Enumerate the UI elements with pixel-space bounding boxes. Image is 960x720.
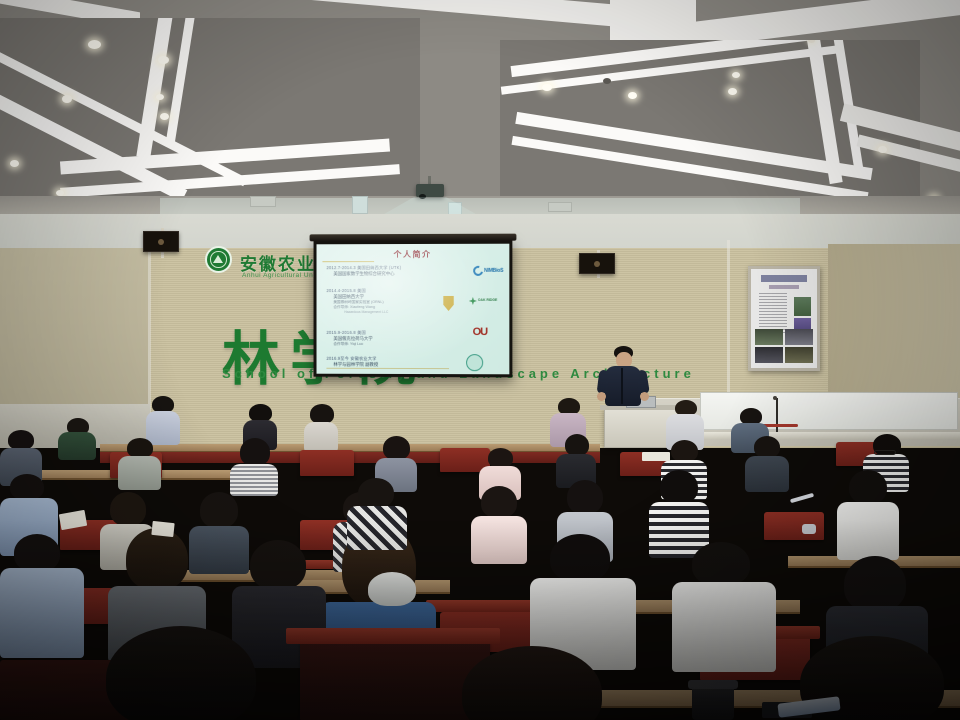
coffee-cup-lid	[688, 680, 738, 689]
nimbios-logo: NIMBioS	[473, 266, 503, 276]
audience-hair	[692, 542, 750, 586]
poster-photo	[785, 329, 813, 345]
poster-text-block	[759, 293, 787, 333]
presenter	[596, 346, 650, 416]
audience-torso	[745, 456, 789, 492]
seat-armrest	[426, 600, 546, 612]
slide-entry-line: 合作导师: Yiqi Luo	[333, 342, 372, 347]
audience-torso	[58, 432, 96, 460]
air-diffuser	[250, 196, 276, 207]
presenter-hand-left	[597, 392, 606, 401]
slide-entry: 2012.7-2014.3 美国田纳西大学 (UTK) 美国国家数学生物综合研究…	[326, 265, 401, 277]
audience-hair	[106, 626, 256, 720]
audience-hair	[10, 474, 44, 500]
presenter-torso	[605, 366, 641, 406]
audience-torso	[304, 422, 338, 452]
coffee-cup	[692, 684, 734, 720]
audience-hair	[754, 436, 780, 458]
university-seal-logo	[442, 296, 455, 311]
ceiling-downlight	[732, 72, 740, 78]
ceiling-downlight	[62, 95, 72, 103]
audience-torso	[837, 502, 899, 560]
ceiling-downlight	[88, 40, 101, 49]
poster-photo	[785, 347, 813, 363]
ou-logo: OU	[473, 326, 488, 338]
audience-hair	[565, 434, 589, 456]
audience-member	[302, 404, 340, 450]
poster-subtitle-bar	[769, 285, 799, 289]
nimbios-swirl-icon	[471, 264, 485, 278]
audience-hair	[383, 436, 410, 460]
audience-hair	[844, 556, 906, 612]
slide-entry: 2015.9-2016.8 美国 美国俄克拉荷马大学 合作导师: Yiqi Lu…	[326, 330, 372, 347]
audience-hair	[127, 438, 153, 458]
audience-torso	[118, 456, 161, 490]
notebook	[642, 452, 670, 461]
ceiling-downlight	[878, 146, 887, 153]
audience-member	[92, 626, 282, 720]
audience-member	[672, 542, 778, 668]
ceiling-coffer-right	[500, 40, 920, 216]
slide-entry: 2016.9至今 安徽农业大学 林学与园林学院 副教授	[326, 356, 378, 368]
ceiling-coffer-left	[0, 18, 420, 216]
poster-photo	[755, 329, 783, 345]
audience-hair	[110, 492, 146, 526]
ceiling-downlight	[628, 92, 637, 99]
audience-hair	[126, 528, 188, 590]
ceiling-downlight	[728, 88, 737, 95]
screen-roller-housing	[310, 234, 517, 242]
ceiling-projector-mount-hole	[603, 78, 611, 84]
audience-hair	[250, 540, 306, 590]
ceiling-downlight	[156, 94, 164, 100]
presenter-hand-right	[640, 392, 649, 401]
slide-entry-line: 林学与园林学院 副教授	[333, 362, 378, 368]
audience-hair	[488, 448, 513, 468]
slide-title: 个人简介	[317, 249, 510, 260]
microphone-head	[773, 396, 777, 400]
poster-image-thumb	[794, 297, 811, 316]
audience-hair	[310, 404, 334, 424]
audience-hair	[462, 646, 602, 720]
poster-photo	[755, 347, 783, 363]
oak-ridge-logo-label: OAK RIDGE	[478, 299, 497, 303]
audience-member	[744, 436, 790, 490]
audience-member	[346, 478, 408, 548]
audience-hair	[240, 438, 270, 466]
ceiling-downlight	[10, 160, 19, 167]
audience-member	[0, 534, 86, 654]
audience-hair	[8, 430, 34, 450]
wall-speaker-right	[579, 253, 615, 274]
presentation-slide: 个人简介 2012.7-2014.3 美国田纳西大学 (UTK) 美国国家数学生…	[317, 244, 510, 375]
framed-poster	[748, 266, 820, 371]
oak-ridge-leaf-icon	[469, 297, 477, 305]
scarf	[368, 572, 416, 606]
audience-hair	[14, 534, 60, 572]
audience-member	[556, 434, 598, 486]
audience-member	[450, 646, 620, 720]
wristwatch	[802, 524, 816, 534]
slide-accent-rule	[322, 261, 374, 262]
aau-seal-logo	[205, 246, 232, 273]
eyeglasses-icon	[874, 450, 896, 455]
audience-member	[470, 486, 528, 562]
audience-hair	[849, 470, 887, 504]
audience-torso	[672, 582, 776, 672]
audience-hair	[550, 534, 610, 582]
audience-hair	[358, 478, 394, 508]
presenter-placket	[621, 368, 623, 404]
audience-member	[836, 470, 900, 558]
audience-torso	[0, 568, 84, 658]
projection-screen: 个人简介 2012.7-2014.3 美国田纳西大学 (UTK) 美国国家数学生…	[314, 241, 513, 378]
slide-entry-line: 美国国家数学生物综合研究中心	[333, 271, 401, 277]
audience-hair	[660, 470, 698, 504]
poster-photo-grid	[755, 329, 813, 363]
audience-torso	[471, 516, 527, 564]
audience-member	[228, 438, 280, 494]
green-circle-seal-logo	[466, 354, 483, 371]
wall-speaker-left	[143, 231, 179, 252]
projector-lens	[419, 194, 426, 199]
audience-torso	[347, 506, 407, 550]
audience-member	[118, 438, 162, 488]
lecture-hall-photo: 安徽农业大学 Anhui Agricultural University 林学院…	[0, 0, 960, 720]
audience-member	[58, 418, 96, 458]
slide-entry: 2014.4-2015.8 美国 美国田纳西大学 美国橡树岭国家实验室 (ORN…	[326, 288, 388, 314]
slide-accent-rule	[326, 368, 449, 369]
oak-ridge-logo: OAK RIDGE	[469, 297, 497, 305]
audience-hair	[481, 486, 517, 518]
pen	[790, 493, 814, 503]
slide-entry-line: Hazardous Management LLC	[344, 310, 388, 314]
audience-hair	[200, 492, 238, 528]
nimbios-logo-label: NIMBioS	[484, 268, 503, 274]
air-diffuser	[548, 202, 572, 212]
poster-title-bar	[761, 275, 807, 282]
lecture-seat	[300, 450, 354, 476]
ceiling-downlight	[160, 113, 169, 120]
audience-hair	[567, 480, 603, 514]
handout-paper	[151, 521, 174, 537]
ceiling-downlight	[158, 56, 169, 64]
wall-flat-panel-left	[0, 248, 150, 426]
audience-hair	[671, 440, 698, 462]
ceiling-downlight	[542, 84, 552, 91]
air-diffuser	[352, 196, 368, 214]
seat-armrest	[286, 628, 500, 644]
